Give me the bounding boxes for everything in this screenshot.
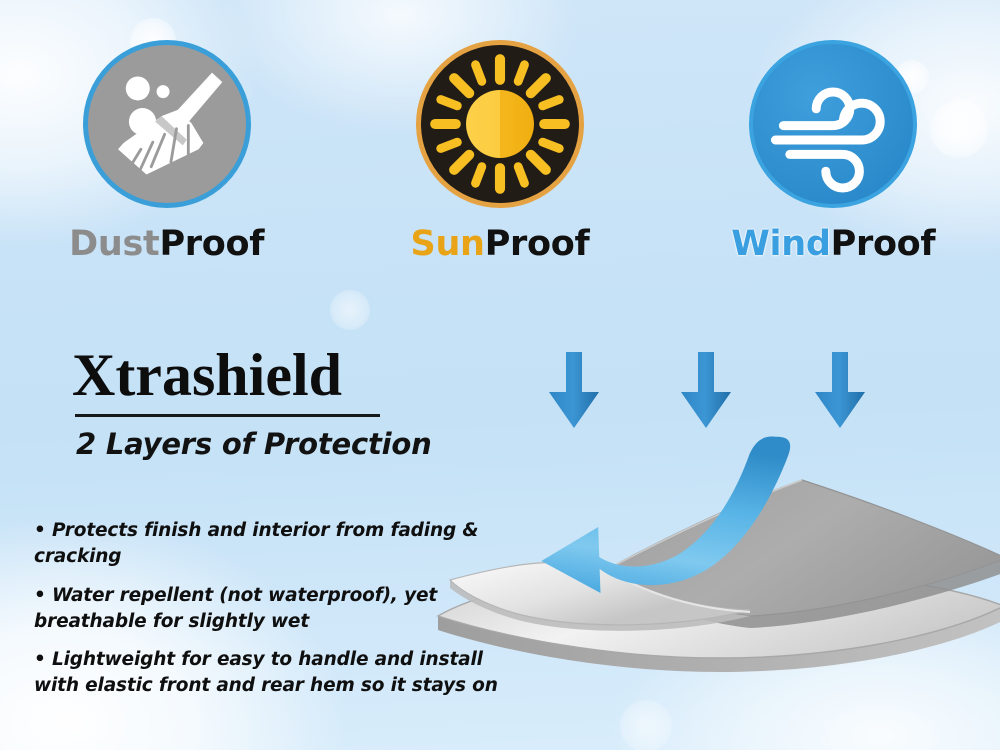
windproof-label: WindProof xyxy=(731,224,935,264)
infographic-poster: DustProof xyxy=(0,0,1000,750)
broom-dust-icon xyxy=(88,45,246,203)
sunproof-label-black: Proof xyxy=(485,224,590,264)
bokeh-dot xyxy=(330,290,370,330)
brand-block: Xtrashield 2 Layers of Protection xyxy=(72,345,492,461)
dustproof-label-colored: Dust xyxy=(69,224,159,264)
badge-windproof: WindProof xyxy=(683,40,983,264)
feature-badge-row: DustProof xyxy=(0,40,1000,280)
dustproof-label-black: Proof xyxy=(159,224,264,264)
brand-title: Xtrashield xyxy=(72,345,492,406)
badge-dustproof: DustProof xyxy=(17,40,317,264)
windproof-label-black: Proof xyxy=(831,224,936,264)
sunproof-label: SunProof xyxy=(411,224,590,264)
sun-icon xyxy=(421,45,579,203)
dustproof-label: DustProof xyxy=(69,224,264,264)
windproof-label-colored: Wind xyxy=(731,224,830,264)
badge-sunproof: SunProof xyxy=(350,40,650,264)
sunproof-label-colored: Sun xyxy=(411,224,485,264)
brand-divider xyxy=(75,414,380,417)
sunproof-circle xyxy=(416,40,584,208)
wind-icon xyxy=(753,44,913,204)
windproof-circle xyxy=(749,40,917,208)
two-layer-fabric-illustration xyxy=(430,420,1000,710)
dustproof-circle xyxy=(83,40,251,208)
